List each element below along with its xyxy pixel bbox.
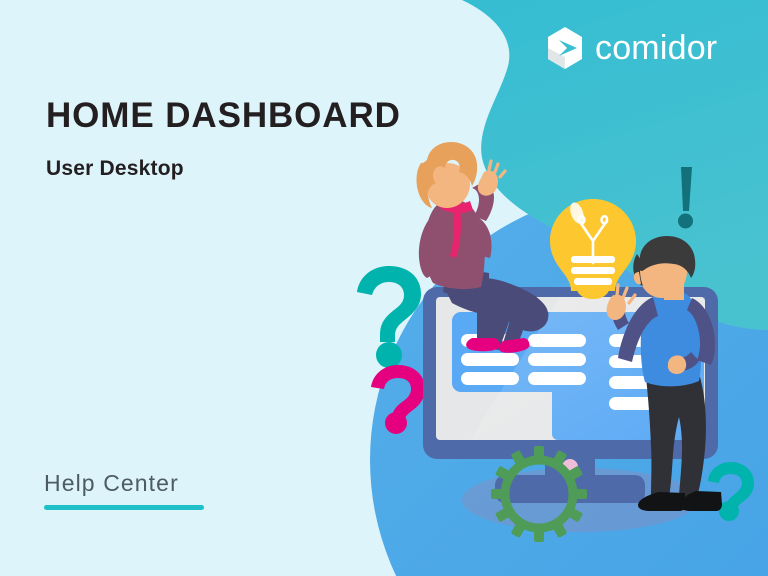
- comidor-cube-icon: [545, 26, 585, 70]
- slide-root: HOME DASHBOARD User Desktop Help Center …: [0, 0, 768, 576]
- comidor-wordmark: comidor: [595, 31, 717, 65]
- help-center-underline: [44, 505, 204, 510]
- page-subtitle: User Desktop: [46, 158, 184, 179]
- text-column: HOME DASHBOARD User Desktop Help Center: [0, 0, 430, 576]
- comidor-logo[interactable]: comidor: [545, 26, 717, 70]
- page-title: HOME DASHBOARD: [46, 98, 401, 133]
- help-center-link[interactable]: Help Center: [44, 472, 204, 510]
- help-center-label: Help Center: [44, 472, 204, 495]
